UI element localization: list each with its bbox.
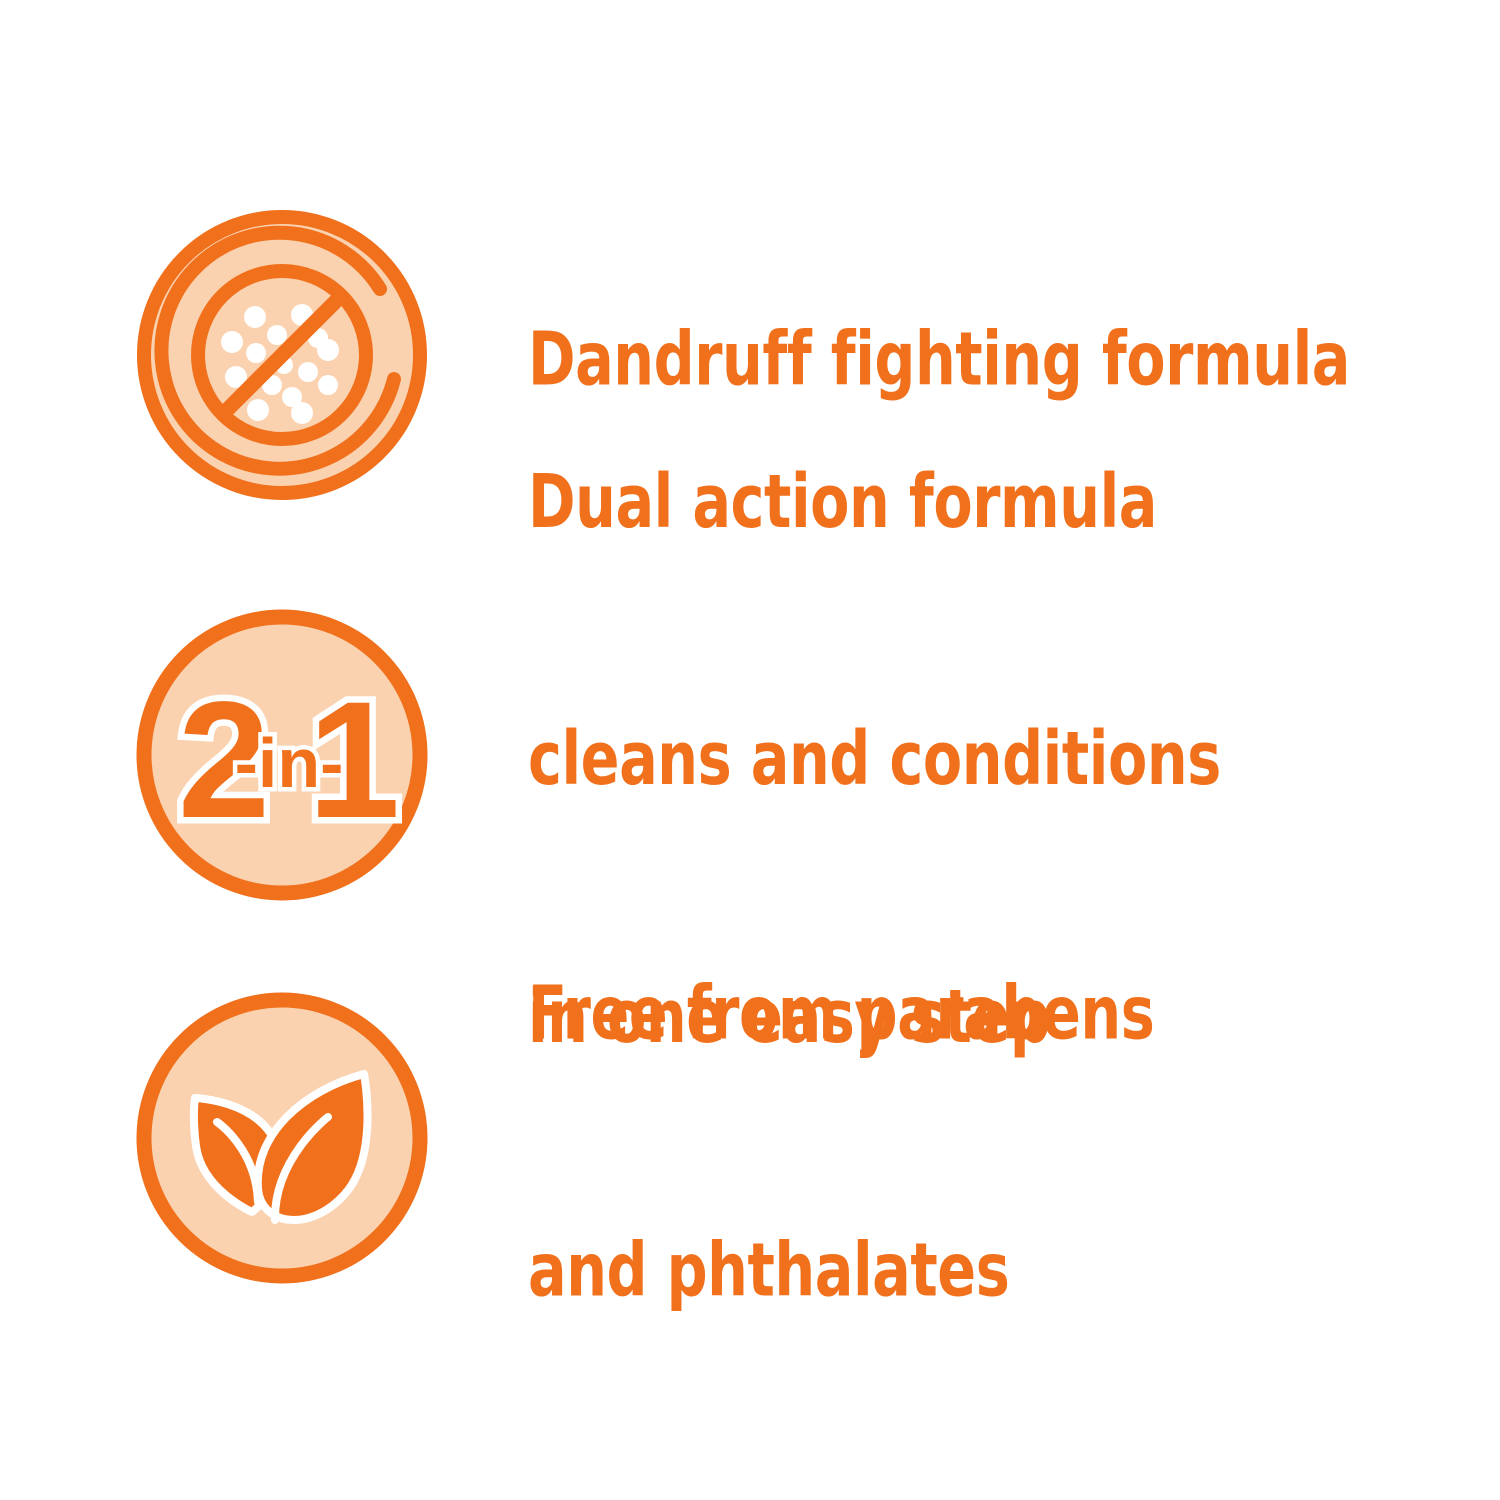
feature-row: Free from parabens and phthalates [0,988,1500,1298]
leaves-icon [132,988,432,1288]
no-dandruff-icon [132,205,432,505]
icon-separator-label: -in- [235,724,344,802]
feature-line: cleans and conditions [528,717,1221,803]
feature-line: Free from parabens [528,971,1154,1057]
feature-callouts-panel: Dandruff fighting formula 2 1 -in- Dual … [0,0,1500,1500]
feature-line: Dual action formula [528,460,1221,546]
feature-text-3: Free from parabens and phthalates [528,800,1256,1487]
two-in-one-icon: 2 1 -in- [132,605,432,905]
feature-line: and phthalates [528,1229,1154,1315]
